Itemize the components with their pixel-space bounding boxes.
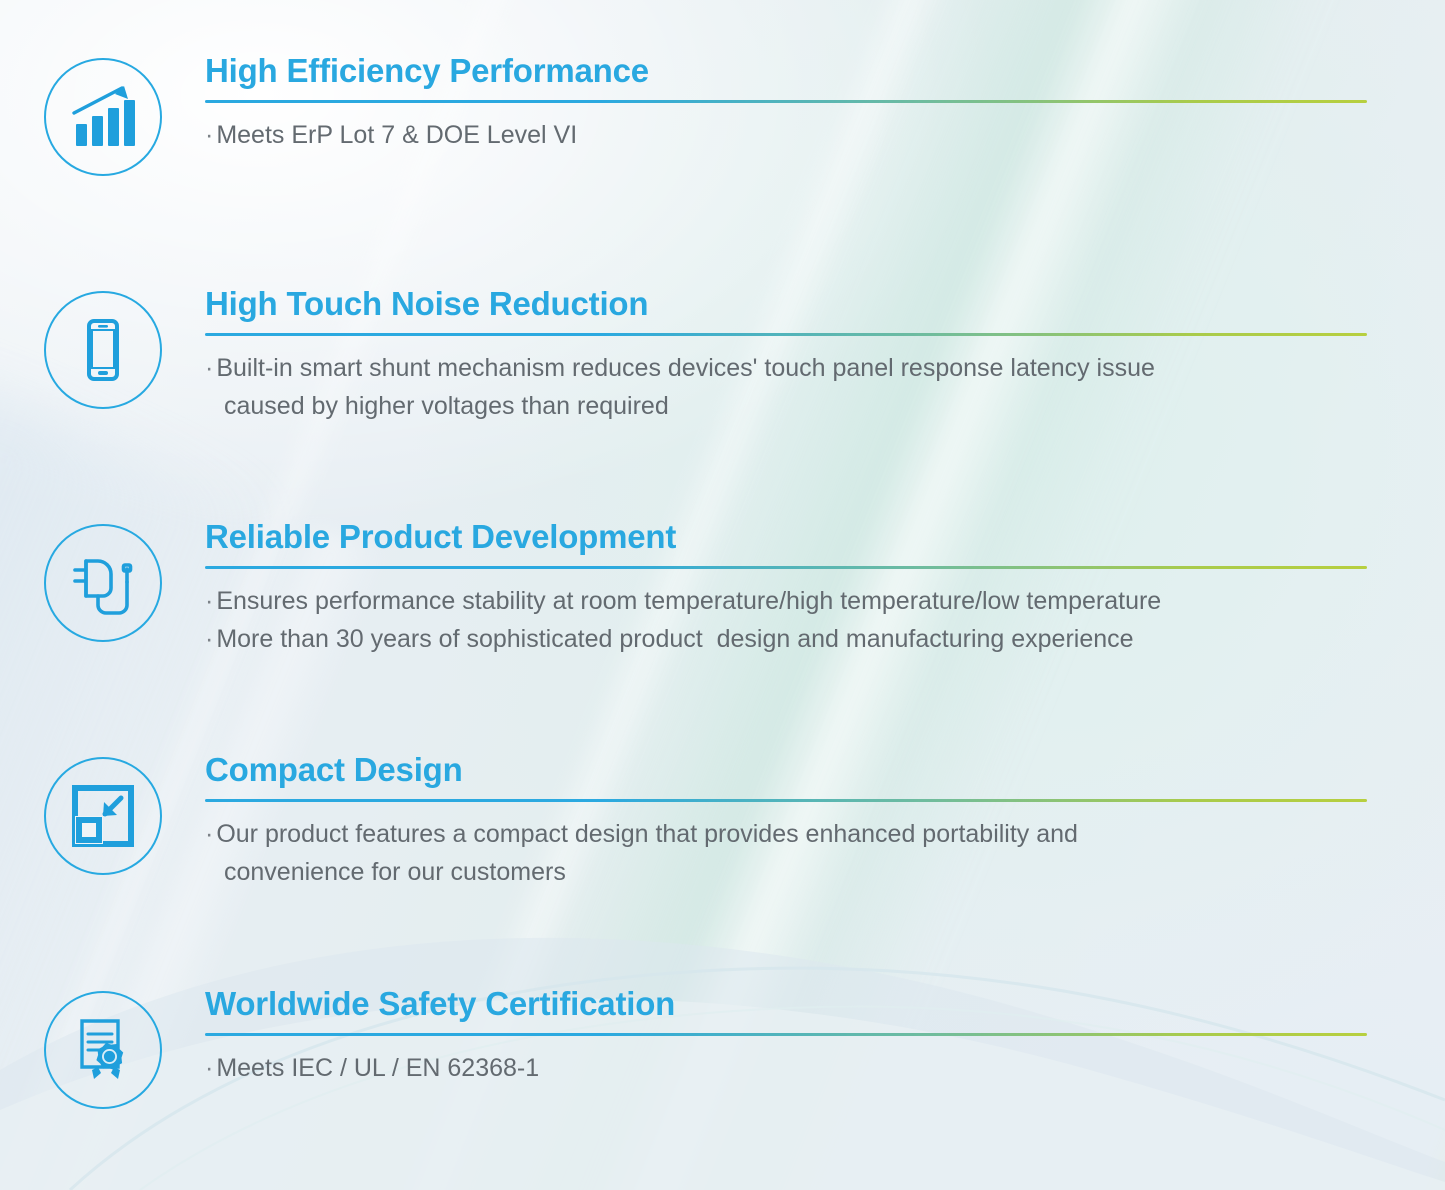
- feature-divider: [205, 333, 1367, 336]
- feature-item: High Efficiency Performance ·Meets ErP L…: [0, 52, 1445, 176]
- feature-description: ·Meets ErP Lot 7 & DOE Level VI: [205, 116, 1367, 154]
- feature-description-text: More than 30 years of sophisticated prod…: [216, 625, 1133, 653]
- feature-description-text: Our product features a compact design th…: [216, 820, 1078, 848]
- feature-title: High Efficiency Performance: [205, 52, 1367, 90]
- feature-title: Reliable Product Development: [205, 518, 1367, 556]
- bullet-glyph: ·: [205, 1054, 213, 1082]
- bullet-glyph: ·: [205, 820, 213, 848]
- feature-item: High Touch Noise Reduction ·Built-in sma…: [0, 285, 1445, 425]
- feature-description-text: Meets ErP Lot 7 & DOE Level VI: [216, 121, 577, 149]
- feature-body: High Efficiency Performance ·Meets ErP L…: [205, 52, 1445, 154]
- certificate-seal-icon: [44, 991, 162, 1109]
- bullet-glyph: ·: [205, 354, 213, 382]
- feature-description: ·Our product features a compact design t…: [205, 815, 1367, 853]
- feature-description-text: Built-in smart shunt mechanism reduces d…: [216, 354, 1155, 382]
- feature-description: ·Meets IEC / UL / EN 62368-1: [205, 1049, 1367, 1087]
- feature-body: Reliable Product Development ·Ensures pe…: [205, 518, 1445, 658]
- feature-description-text: Meets IEC / UL / EN 62368-1: [216, 1054, 539, 1082]
- feature-body: Worldwide Safety Certification ·Meets IE…: [205, 985, 1445, 1087]
- feature-divider: [205, 799, 1367, 802]
- feature-icon-wrap: [0, 518, 205, 642]
- feature-title: High Touch Noise Reduction: [205, 285, 1367, 323]
- bullet-glyph: ·: [205, 121, 213, 149]
- feature-description-text: Ensures performance stability at room te…: [216, 587, 1161, 615]
- feature-title: Worldwide Safety Certification: [205, 985, 1367, 1023]
- bullet-glyph: ·: [205, 625, 213, 653]
- smartphone-icon: [44, 291, 162, 409]
- feature-divider: [205, 566, 1367, 569]
- feature-body: High Touch Noise Reduction ·Built-in sma…: [205, 285, 1445, 425]
- bullet-glyph: ·: [205, 587, 213, 615]
- feature-description: ·Built-in smart shunt mechanism reduces …: [205, 349, 1367, 387]
- feature-divider: [205, 100, 1367, 103]
- feature-icon-wrap: [0, 985, 205, 1109]
- feature-icon-wrap: [0, 751, 205, 875]
- compact-resize-icon: [44, 757, 162, 875]
- feature-item: Compact Design ·Our product features a c…: [0, 751, 1445, 891]
- feature-divider: [205, 1033, 1367, 1036]
- feature-description: ·More than 30 years of sophisticated pro…: [205, 620, 1367, 658]
- power-adapter-icon: [44, 524, 162, 642]
- feature-item: Worldwide Safety Certification ·Meets IE…: [0, 985, 1445, 1109]
- feature-description: ·Ensures performance stability at room t…: [205, 582, 1367, 620]
- feature-description-continuation: convenience for our customers: [205, 853, 1367, 891]
- feature-description-continuation: caused by higher voltages than required: [205, 387, 1367, 425]
- bar-chart-growth-icon: [44, 58, 162, 176]
- feature-icon-wrap: [0, 285, 205, 409]
- feature-item: Reliable Product Development ·Ensures pe…: [0, 518, 1445, 658]
- feature-title: Compact Design: [205, 751, 1367, 789]
- feature-icon-wrap: [0, 52, 205, 176]
- feature-highlights-panel: High Efficiency Performance ·Meets ErP L…: [0, 0, 1445, 1190]
- feature-body: Compact Design ·Our product features a c…: [205, 751, 1445, 891]
